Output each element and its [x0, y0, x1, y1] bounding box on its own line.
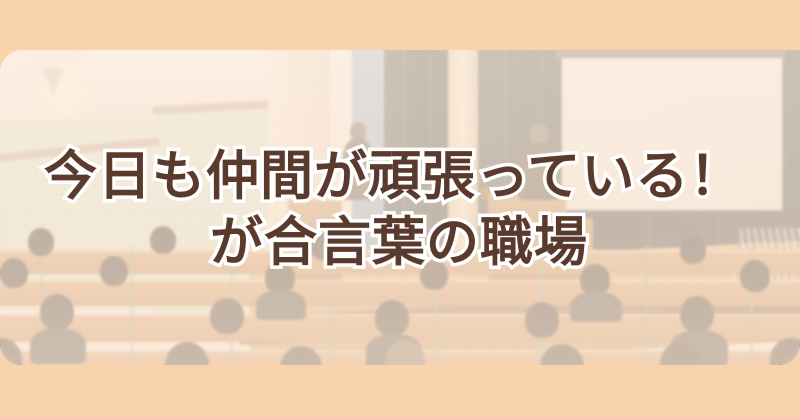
audience-head	[165, 342, 209, 365]
audience-head	[310, 232, 336, 260]
seat-divider	[130, 246, 133, 365]
photo-plate	[0, 50, 800, 365]
audience-head	[525, 302, 559, 338]
audience-head	[680, 236, 706, 264]
stage-speaker-body	[342, 138, 374, 200]
audience-head	[375, 300, 409, 336]
wall-sconce-glow	[28, 58, 98, 118]
seat-divider	[645, 246, 648, 365]
audience-head	[0, 258, 28, 288]
audience-shoulders	[30, 328, 86, 364]
audience-head	[150, 226, 176, 254]
audience-head	[100, 256, 128, 286]
audience-head	[420, 260, 448, 290]
banner-image: 今日も仲間が頑張っている！ が合言葉の職場	[0, 0, 800, 419]
audience-head	[40, 294, 74, 330]
audience-head	[210, 298, 244, 334]
audience-head	[500, 230, 526, 258]
audience-head	[28, 228, 54, 256]
audience-head	[280, 346, 322, 365]
audience-head	[770, 338, 800, 365]
audience-head	[680, 296, 714, 332]
podium-speaker-body	[518, 142, 560, 200]
audience-seating	[0, 246, 800, 365]
auditorium-photo	[0, 50, 800, 365]
audience-shoulders	[256, 290, 306, 320]
audience-head	[0, 338, 22, 365]
audience-shoulders	[570, 292, 622, 322]
audience-head	[740, 260, 770, 292]
projector-screen	[560, 56, 784, 212]
audience-head	[540, 344, 584, 365]
seat-divider	[330, 246, 333, 365]
